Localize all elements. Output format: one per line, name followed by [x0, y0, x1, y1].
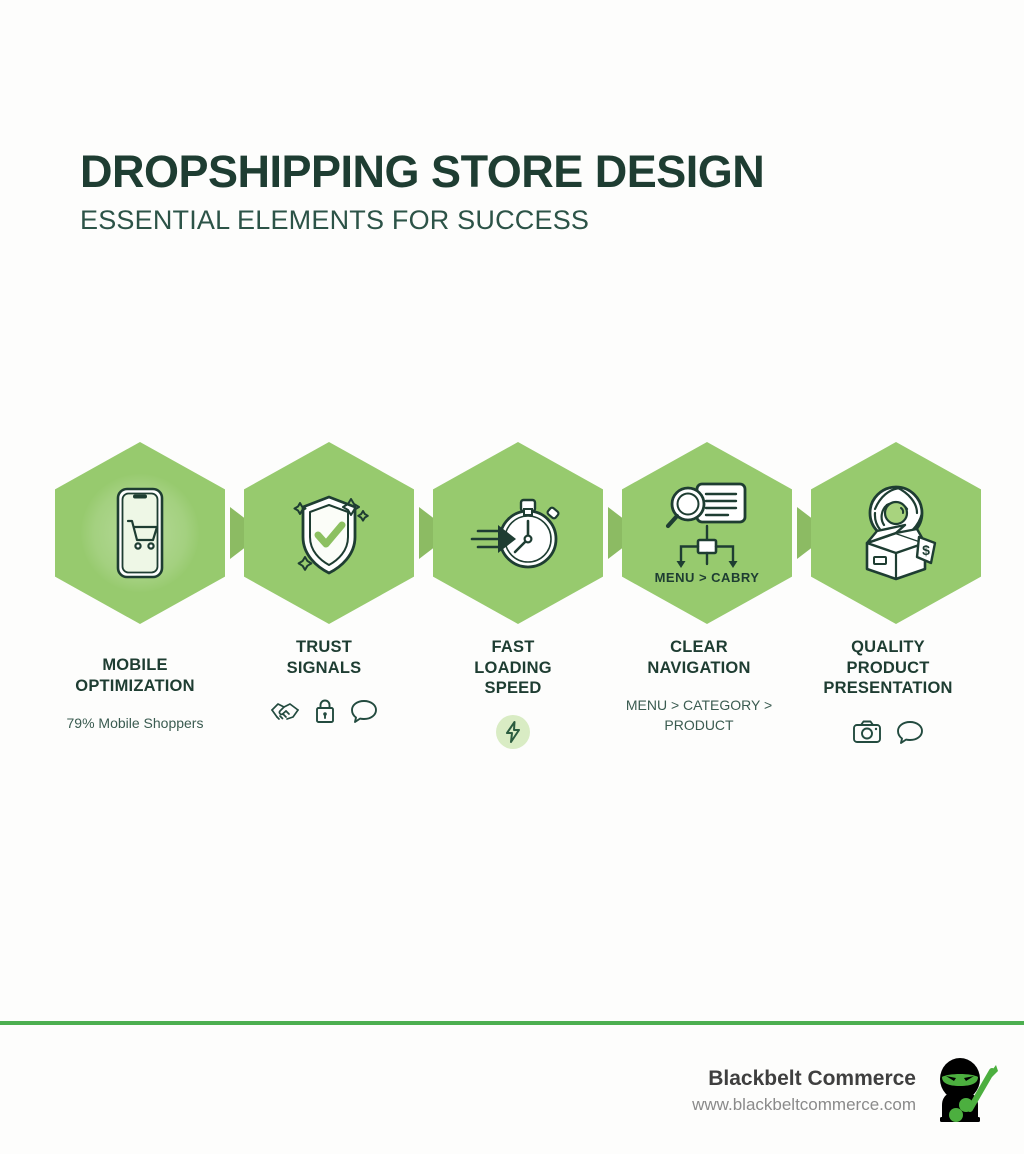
brand-block: Blackbelt Commerce www.blackbeltcommerce…	[692, 1066, 916, 1115]
stopwatch-speed-icon	[468, 487, 568, 579]
caption-title-line: SIGNALS	[224, 658, 424, 679]
flow-step-fast-loading-speed[interactable]	[433, 442, 603, 624]
caption-title-line: PRODUCT	[788, 658, 988, 679]
brand-url[interactable]: www.blackbeltcommerce.com	[692, 1094, 916, 1116]
footer: Blackbelt Commerce www.blackbeltcommerce…	[692, 1055, 1002, 1127]
caption-clear-navigation: CLEAR NAVIGATION MENU > CATEGORY > PRODU…	[599, 637, 799, 735]
lightning-bolt-badge	[496, 715, 530, 749]
flow-step-mobile-optimization[interactable]	[55, 442, 225, 624]
flow-step-clear-navigation[interactable]: MENU > CABRY	[622, 442, 792, 624]
hexagon-shape	[55, 442, 225, 624]
speed-icons	[413, 715, 613, 749]
caption-title-line: SPEED	[413, 678, 613, 699]
lightning-bolt-icon	[505, 721, 521, 743]
header: DROPSHIPPING STORE DESIGN ESSENTIAL ELEM…	[80, 148, 764, 236]
flow-step-quality-product-presentation[interactable]: $	[811, 442, 981, 624]
caption-title-line: CLEAR	[599, 637, 799, 658]
trust-signal-icons	[224, 694, 424, 728]
caption-title-line: FAST	[413, 637, 613, 658]
search-sitemap-icon: MENU > CABRY	[651, 478, 763, 588]
hexagon-shape: $	[811, 442, 981, 624]
hexagon-shape	[433, 442, 603, 624]
speech-bubble-icon	[350, 698, 378, 724]
hexagon-shape: MENU > CABRY	[622, 442, 792, 624]
handshake-icon	[270, 698, 300, 724]
caption-title-line: LOADING	[413, 658, 613, 679]
ninja-logo-icon	[930, 1055, 1002, 1127]
caption-title-line: QUALITY	[788, 637, 988, 658]
caption-title-line: OPTIMIZATION	[35, 676, 235, 697]
caption-mobile-optimization: MOBILE OPTIMIZATION 79% Mobile Shoppers	[35, 655, 235, 734]
hexagon-shape	[244, 442, 414, 624]
process-flow: MENU > CABRY	[50, 442, 980, 624]
caption-title: CLEAR NAVIGATION	[599, 637, 799, 678]
caption-title: QUALITY PRODUCT PRESENTATION	[788, 637, 988, 699]
flow-step-trust-signals[interactable]	[244, 442, 414, 624]
caption-title-line: PRESENTATION	[788, 678, 988, 699]
footer-divider	[0, 1021, 1024, 1025]
svg-text:$: $	[922, 542, 930, 558]
page-subtitle: ESSENTIAL ELEMENTS FOR SUCCESS	[80, 205, 764, 236]
brand-name: Blackbelt Commerce	[692, 1066, 916, 1092]
caption-title: MOBILE OPTIMIZATION	[35, 655, 235, 696]
caption-title-line: NAVIGATION	[599, 658, 799, 679]
padlock-icon	[314, 698, 336, 724]
caption-title-line: MOBILE	[35, 655, 235, 676]
presentation-icons	[788, 715, 988, 749]
camera-icon	[852, 719, 882, 745]
caption-title: TRUST SIGNALS	[224, 637, 424, 678]
caption-breadcrumb: MENU > CATEGORY > PRODUCT	[599, 696, 799, 735]
caption-title-line: TRUST	[224, 637, 424, 658]
smartphone-shopping-cart-icon	[104, 485, 176, 581]
camera-aperture-box-icon: $	[847, 481, 945, 585]
caption-fast-loading-speed: FAST LOADING SPEED	[413, 637, 613, 749]
caption-title: FAST LOADING SPEED	[413, 637, 613, 699]
caption-quality-product-presentation: QUALITY PRODUCT PRESENTATION	[788, 637, 988, 749]
shield-check-sparkle-icon	[283, 485, 375, 581]
caption-stat: 79% Mobile Shoppers	[35, 714, 235, 734]
speech-bubble-icon	[896, 719, 924, 745]
sitemap-label: MENU > CABRY	[655, 570, 760, 585]
page-title: DROPSHIPPING STORE DESIGN	[80, 148, 764, 195]
caption-trust-signals: TRUST SIGNALS	[224, 637, 424, 728]
